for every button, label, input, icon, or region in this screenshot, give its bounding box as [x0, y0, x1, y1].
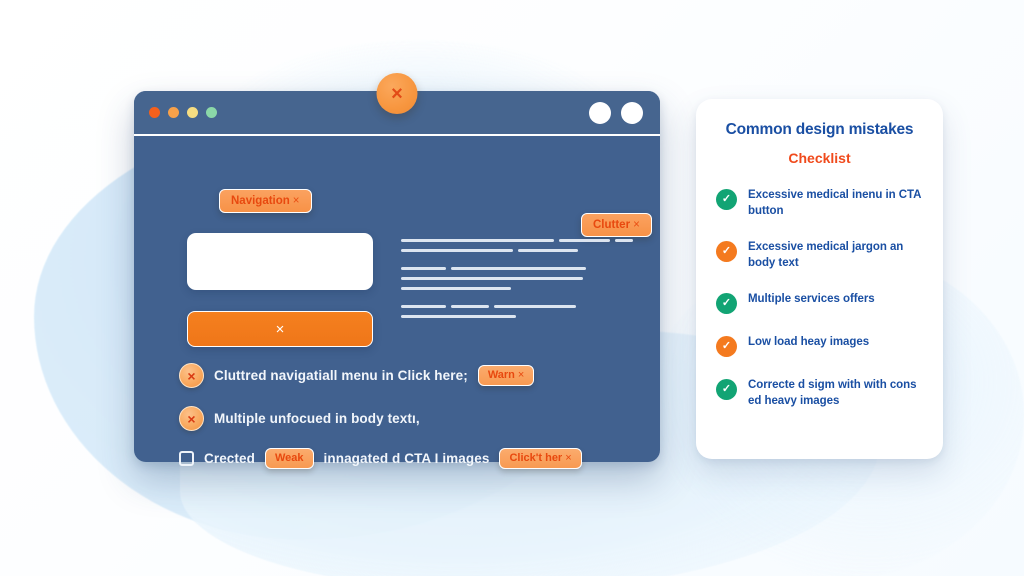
traffic-light-group	[149, 107, 217, 118]
check-circle-green-icon: ✓	[716, 293, 737, 314]
skeleton-bar	[401, 287, 511, 290]
checklist-item-label: Multiple services offers	[748, 292, 875, 308]
tag-chip-clutter[interactable]: Clutter×	[581, 213, 652, 237]
skeleton-bar	[451, 305, 489, 308]
card-title: Common design mistakes	[716, 121, 923, 139]
window-controls-group	[589, 102, 643, 124]
text-input-field[interactable]	[187, 233, 373, 290]
bottom-row-label-after: innagated d CTA I images	[324, 451, 490, 466]
chip-warn[interactable]: Warn×	[478, 365, 535, 386]
close-dot[interactable]	[149, 107, 160, 118]
chip-warn-close-icon[interactable]: ×	[518, 369, 524, 381]
skeleton-bar	[401, 249, 513, 252]
issue-text: Multiple unfocued in body textı,	[214, 411, 420, 426]
item-excessive-medical-menu[interactable]: ✓Excessive medical inenu in CTA button	[716, 188, 923, 219]
chip-weak[interactable]: Weak	[265, 448, 314, 469]
close-badge-icon[interactable]: ×	[377, 73, 418, 114]
chip-warn-label: Warn	[488, 369, 515, 381]
chip-weak-label: Weak	[275, 452, 304, 464]
zoom-dot[interactable]	[187, 107, 198, 118]
window-control-circle-1[interactable]	[589, 102, 611, 124]
skeleton-line-row	[401, 315, 633, 318]
tag-chip-navigation[interactable]: Navigation×	[219, 189, 312, 213]
chip-click-here[interactable]: Click't her×	[499, 448, 581, 469]
skeleton-bar	[494, 305, 576, 308]
checklist-card: Common design mistakes Checklist ✓Excess…	[696, 99, 943, 459]
cta-button-x-icon: ×	[276, 322, 285, 337]
skeleton-bar	[401, 305, 446, 308]
issue-row: × Multiple unfocued in body textı,	[179, 406, 420, 431]
check-circle-orange-icon: ✓	[716, 336, 737, 357]
issue-row: × Cluttred navigatiall menu in Click her…	[179, 363, 534, 388]
checklist-item-label: Excessive medical jargon an body text	[748, 240, 923, 271]
skeleton-line-row	[401, 249, 633, 252]
skeleton-line-row	[401, 277, 633, 280]
checkbox-input[interactable]	[179, 451, 194, 466]
skeleton-bar	[401, 239, 554, 242]
checklist-item-label: Correcte d sigm with with cons ed heavy …	[748, 378, 923, 409]
tag-chip-navigation-close-icon[interactable]: ×	[293, 195, 300, 207]
check-circle-orange-icon: ✓	[716, 241, 737, 262]
skeleton-bar	[518, 249, 578, 252]
skeleton-bar	[401, 267, 446, 270]
skeleton-line-row	[401, 267, 633, 270]
item-excessive-jargon[interactable]: ✓Excessive medical jargon an body text	[716, 240, 923, 271]
cta-button[interactable]: ×	[187, 311, 373, 347]
tag-chip-clutter-close-icon[interactable]: ×	[633, 219, 640, 231]
minimize-dot[interactable]	[168, 107, 179, 118]
browser-content-area: Navigation× Clutter× × × Cluttred naviga…	[134, 136, 660, 460]
skeleton-bar	[615, 239, 633, 242]
card-subtitle: Checklist	[716, 150, 923, 166]
tag-chip-clutter-label: Clutter	[593, 219, 630, 231]
extra-dot[interactable]	[206, 107, 217, 118]
error-x-icon: ×	[179, 363, 204, 388]
skeleton-bar	[401, 277, 583, 280]
item-correct-design[interactable]: ✓Correcte d sigm with with cons ed heavy…	[716, 378, 923, 409]
skeleton-text-lines	[401, 239, 633, 325]
skeleton-line-row	[401, 239, 633, 242]
browser-window-mockup: × Navigation× Clutter× × × Cluttred navi…	[134, 91, 660, 462]
window-control-circle-2[interactable]	[621, 102, 643, 124]
chip-click-here-label: Click't her	[509, 452, 562, 464]
issue-text: Cluttred navigatiall menu in Click here;	[214, 368, 468, 383]
item-low-load-heavy-images[interactable]: ✓Low load heay images	[716, 335, 923, 357]
checklist-item-label: Excessive medical inenu in CTA button	[748, 188, 923, 219]
tag-chip-navigation-label: Navigation	[231, 195, 290, 207]
check-circle-green-icon: ✓	[716, 379, 737, 400]
checklist-items-list: ✓Excessive medical inenu in CTA button✓E…	[716, 188, 923, 409]
bottom-row-label-before: Crected	[204, 451, 255, 466]
skeleton-bar	[451, 267, 586, 270]
chip-click-here-close-icon[interactable]: ×	[565, 452, 571, 464]
skeleton-line-row	[401, 287, 633, 290]
item-multiple-services[interactable]: ✓Multiple services offers	[716, 292, 923, 314]
skeleton-bar	[401, 315, 516, 318]
skeleton-line-row	[401, 305, 633, 308]
error-x-icon: ×	[179, 406, 204, 431]
bottom-checkbox-row: Crected Weak innagated d CTA I images Cl…	[179, 448, 582, 469]
skeleton-bar	[559, 239, 610, 242]
checklist-item-label: Low load heay images	[748, 335, 869, 351]
check-circle-green-icon: ✓	[716, 189, 737, 210]
